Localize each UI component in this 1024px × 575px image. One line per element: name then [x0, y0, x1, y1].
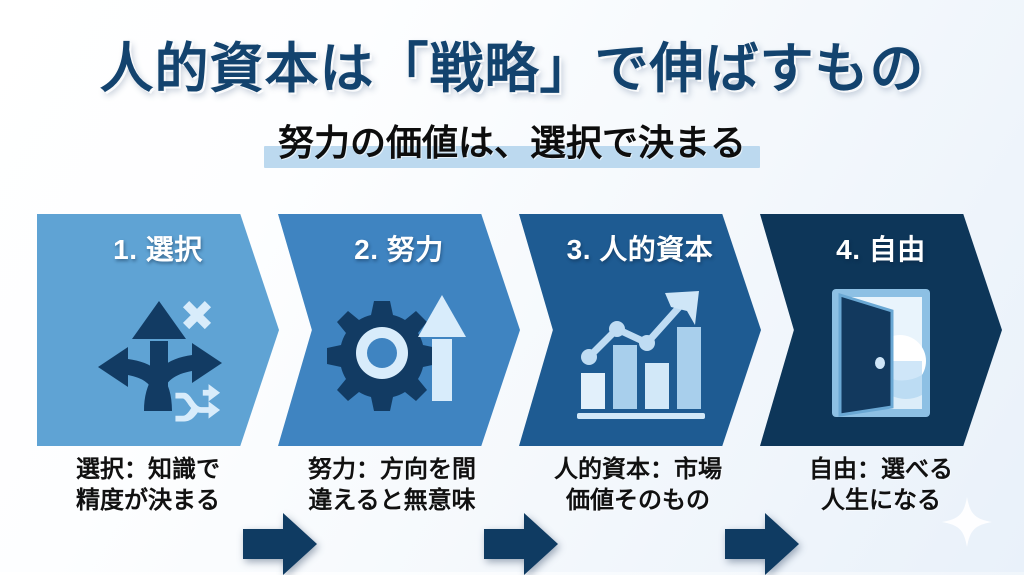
- branching-arrows-icon: [88, 283, 228, 423]
- step-1-icon-box: [37, 268, 279, 446]
- arrow-step3-to-step4: [725, 513, 799, 575]
- arrow-step2-to-step3: [484, 513, 558, 575]
- page-title: 人的資本は「戦略」で伸ばすもの: [0, 24, 1024, 103]
- caption-2-line-2: 違えると無意味: [272, 486, 512, 517]
- step-4-label: 4. 自由: [836, 228, 926, 268]
- caption-4-line-1: 自由：選べる: [768, 455, 994, 486]
- subtitle-text: 努力の価値は、選択で決まる: [278, 122, 746, 163]
- open-door-icon: [816, 283, 946, 423]
- caption-2-line-1: 努力：方向を間: [272, 455, 512, 486]
- process-step-2[interactable]: 2. 努力: [278, 214, 520, 446]
- step-2-label: 2. 努力: [354, 228, 444, 268]
- caption-3-line-2: 価値そのもの: [518, 486, 758, 517]
- process-chevron-band: 1. 選択: [0, 214, 1024, 448]
- caption-1-line-2: 精度が決まる: [32, 486, 264, 517]
- step-4-icon-box: [760, 268, 1002, 446]
- step-3-icon-box: [519, 268, 761, 446]
- process-step-1[interactable]: 1. 選択: [37, 214, 279, 446]
- caption-step-2: 努力：方向を間 違えると無意味: [272, 455, 512, 516]
- process-step-3[interactable]: 3. 人的資本: [519, 214, 761, 446]
- step-3-label: 3. 人的資本: [567, 228, 714, 268]
- growth-chart-icon: [565, 283, 715, 423]
- arrow-step1-to-step2: [243, 513, 317, 575]
- page-subtitle: 努力の価値は、選択で決まる: [264, 112, 760, 170]
- process-step-4[interactable]: 4. 自由: [760, 214, 1002, 446]
- caption-3-line-1: 人的資本：市場: [518, 455, 758, 486]
- caption-1-line-1: 選択：知識で: [32, 455, 264, 486]
- step-1-label: 1. 選択: [113, 228, 203, 268]
- caption-step-1: 選択：知識で 精度が決まる: [32, 455, 264, 516]
- infographic-canvas: 人的資本は「戦略」で伸ばすもの 努力の価値は、選択で決まる 1. 選択: [0, 0, 1024, 572]
- caption-step-4: 自由：選べる 人生になる: [768, 455, 994, 516]
- gear-arrow-icon: [324, 283, 474, 423]
- step-2-icon-box: [278, 268, 520, 446]
- subtitle-container: 努力の価値は、選択で決まる: [0, 112, 1024, 170]
- caption-step-3: 人的資本：市場 価値そのもの: [518, 455, 758, 516]
- caption-4-line-2: 人生になる: [768, 486, 994, 517]
